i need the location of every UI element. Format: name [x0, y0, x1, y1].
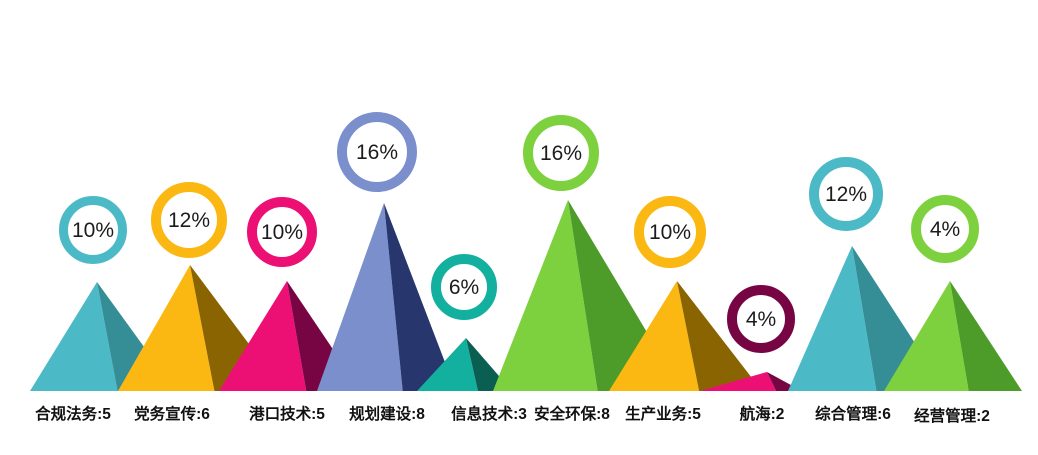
category-label-1: 合规法务:5	[35, 402, 111, 424]
percentage-bubble-9: 12%	[809, 157, 883, 231]
category-label-8: 航海:2	[740, 402, 785, 424]
category-label-7: 生产业务:5	[625, 402, 701, 424]
percentage-value: 10%	[649, 222, 691, 243]
category-label-3: 港口技术:5	[249, 402, 325, 424]
category-label-6: 安全环保:8	[534, 402, 610, 424]
infographic-canvas: 10%12%10%16%6%16%10%4%12%4% 合规法务:5党务宣传:6…	[0, 0, 1038, 455]
category-label-4: 规划建设:8	[349, 402, 425, 424]
category-label-5: 信息技术:3	[451, 402, 527, 424]
percentage-value: 10%	[261, 222, 303, 243]
percentage-value: 4%	[930, 219, 960, 240]
percentage-value: 16%	[356, 142, 398, 163]
percentage-bubble-7: 10%	[634, 196, 706, 268]
percentage-bubble-3: 10%	[247, 197, 317, 267]
percentage-bubble-1: 10%	[59, 196, 127, 264]
percentage-value: 12%	[825, 184, 867, 205]
percentage-value: 16%	[540, 143, 582, 164]
category-label-10: 经营管理:2	[914, 404, 990, 426]
percentage-bubble-2: 12%	[151, 182, 227, 258]
category-label-2: 党务宣传:6	[134, 402, 210, 424]
percentage-value: 4%	[746, 309, 776, 330]
percentage-bubble-8: 4%	[727, 285, 795, 353]
percentage-value: 12%	[168, 210, 210, 231]
percentage-bubble-5: 6%	[431, 254, 497, 320]
category-label-9: 综合管理:6	[815, 402, 891, 424]
percentage-bubble-10: 4%	[911, 195, 979, 263]
percentage-value: 6%	[449, 277, 479, 298]
percentage-value: 10%	[72, 220, 114, 241]
percentage-bubble-4: 16%	[337, 112, 417, 192]
percentage-bubble-6: 16%	[523, 115, 599, 191]
